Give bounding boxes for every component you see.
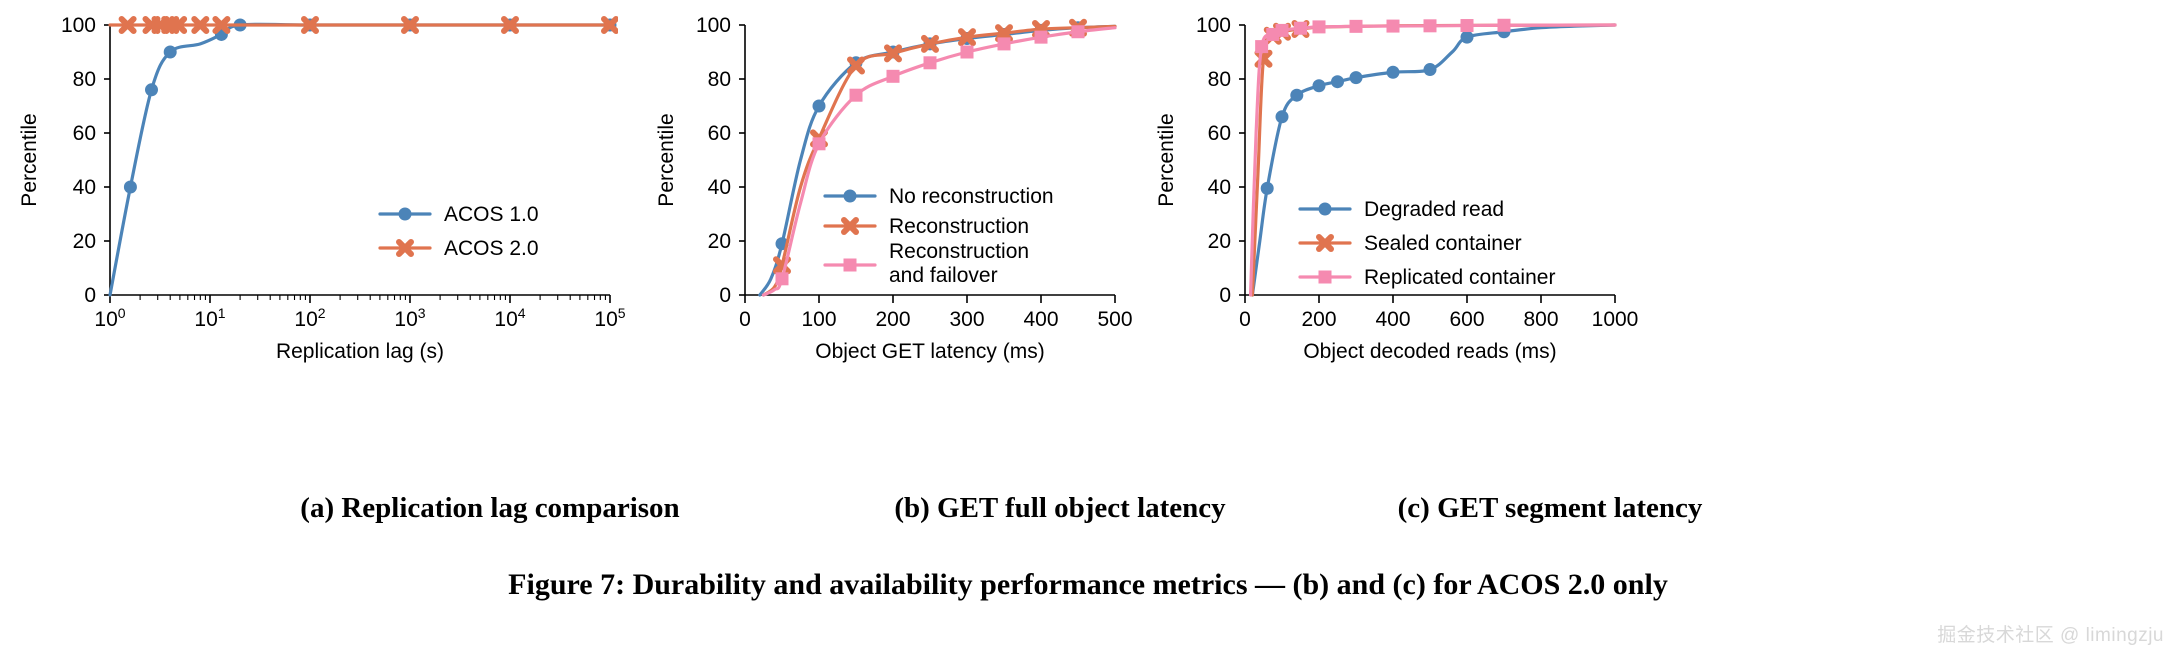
x-axis-title-c: Object decoded reads (ms) [1303,340,1556,363]
y-tick-label: 0 [84,284,96,307]
chart-panel-c: 0 20 40 60 80 100 Percentile [1140,0,1660,480]
series-marker [504,19,516,31]
legend-label: No reconstruction [889,185,1054,208]
series-marker [1035,31,1048,44]
series-marker [145,83,158,96]
x-axis-title-a: Replication lag (s) [276,340,444,363]
y-tick-label: 0 [1219,284,1231,307]
series-marker [124,181,137,194]
x-tick-label: 0 [739,308,751,331]
x-axis-title-b: Object GET latency (ms) [815,340,1045,363]
x-tick-label: 101 [194,305,225,331]
legend-label-line2: and failover [889,264,998,287]
y-tick-label: 80 [73,68,96,91]
series-marker [604,19,616,31]
y-tick-label: 20 [708,230,731,253]
chart-panel-a: 0 20 40 60 80 100 Percentile [0,0,640,480]
y-ticks-a: 0 20 40 60 80 100 [61,14,110,307]
x-tick-label: 104 [494,305,525,331]
legend-label: ACOS 2.0 [444,237,539,260]
legend-entry-replicated-container[interactable]: Replicated container [1300,266,1555,289]
legend-marker-x [1319,237,1331,249]
series-marker [813,100,826,113]
x-tick-label: 100 [801,308,836,331]
y-tick-label: 20 [73,230,96,253]
y-tick-label: 0 [719,284,731,307]
legend-marker-x [399,242,411,254]
y-axis-title-b: Percentile [655,113,678,206]
figure-container: 0 20 40 60 80 100 Percentile [0,0,2176,655]
y-tick-label: 100 [1196,14,1231,37]
y-axis-title-c: Percentile [1155,113,1178,206]
series-marker [1498,19,1511,32]
x-tick-label: 300 [949,308,984,331]
series-marker [1313,20,1326,33]
series-marker [1294,22,1307,35]
series-marker [1350,20,1363,33]
series-marker [1290,89,1303,102]
series-marker [1461,19,1474,32]
chart-panel-b: 0 20 40 60 80 100 Percentile [640,0,1140,480]
figure-caption: Figure 7: Durability and availability pe… [0,568,2176,602]
series-marker [1261,182,1274,195]
panel-b-legend: No reconstruction Reconstruction Reco [825,185,1054,287]
panels-row: 0 20 40 60 80 100 Percentile [0,0,2176,480]
x-tick-label: 105 [594,305,625,331]
legend-label: Sealed container [1364,232,1522,255]
series-marker [172,19,184,31]
y-ticks-b: 0 20 40 60 80 100 [696,14,745,307]
y-axis-title-a: Percentile [18,113,41,206]
panel-c-svg: 0 20 40 60 80 100 Percentile [1140,0,1660,480]
series-marker [122,19,134,31]
legend-marker-circle [844,190,857,203]
panel-a-axes: 0 20 40 60 80 100 Percentile [18,14,626,363]
series-marker [887,47,899,59]
subcaption-c: (c) GET segment latency [1320,492,1780,525]
panel-c-legend: Degraded read Sealed container Replic [1300,198,1555,289]
series-marker [1276,24,1289,37]
legend-label: Reconstruction [889,215,1029,238]
x-tick-label: 103 [394,305,425,331]
series-marker [164,46,177,59]
x-tick-label: 1000 [1592,308,1639,331]
y-tick-label: 100 [61,14,96,37]
series-1 [110,19,617,296]
panel-a-legend: ACOS 1.0 ACOS 2.0 [380,203,539,260]
series-marker [961,46,974,59]
legend-entry-sealed-container[interactable]: Sealed container [1300,232,1522,255]
series-marker [813,137,826,150]
series-marker [1255,40,1268,53]
legend-entry-acos2[interactable]: ACOS 2.0 [380,237,539,260]
series-marker [194,19,206,31]
legend-label: Degraded read [1364,198,1504,221]
x-ticks-c: 0 200 400 600 800 1000 [1239,295,1638,331]
y-tick-label: 40 [73,176,96,199]
legend-entry-no-reconstruction[interactable]: No reconstruction [825,185,1054,208]
series-marker [850,60,862,72]
x-tick-label: 800 [1523,308,1558,331]
x-tick-labels-a: 100 101 102 103 104 105 [94,305,625,331]
series-marker [961,31,973,43]
series-marker [1424,19,1437,32]
y-tick-label: 20 [1208,230,1231,253]
legend-marker-circle [399,208,412,221]
series-marker [776,272,789,285]
x-tick-label: 400 [1023,308,1058,331]
x-tick-label: 0 [1239,308,1251,331]
series-marker [1331,75,1344,88]
y-tick-label: 60 [73,122,96,145]
x-tick-label: 100 [94,305,125,331]
series-marker [1424,63,1437,76]
legend-marker-circle [1319,203,1332,216]
series-marker [1387,20,1400,33]
series-marker [924,56,937,69]
legend-label: Replicated container [1364,266,1555,289]
series-marker [850,89,863,102]
series-marker [404,19,416,31]
panel-a-series [110,19,617,296]
subcaption-a: (a) Replication lag comparison [180,492,800,525]
series-2 [110,19,616,31]
legend-marker-square [1319,271,1332,284]
panel-c-axes: 0 20 40 60 80 100 Percentile [1155,14,1638,363]
legend-entry-reconstruction-failover[interactable]: Reconstruction and failover [825,240,1029,287]
legend-entry-reconstruction[interactable]: Reconstruction [825,215,1029,238]
series-marker [998,27,1010,39]
x-tick-label: 200 [1301,308,1336,331]
y-tick-label: 80 [1208,68,1231,91]
legend-entry-acos1[interactable]: ACOS 1.0 [380,203,539,226]
series-marker [1461,31,1474,44]
series-marker [924,38,936,50]
y-ticks-c: 0 20 40 60 80 100 [1196,14,1245,307]
series-marker [1276,110,1289,123]
legend-entry-degraded-read[interactable]: Degraded read [1300,198,1504,221]
watermark: 掘金技术社区 @ limingzju [1937,620,2164,647]
x-tick-label: 102 [294,305,325,331]
x-ticks-a [110,295,610,303]
x-tick-label: 200 [875,308,910,331]
panel-a-svg: 0 20 40 60 80 100 Percentile [0,0,640,480]
y-tick-label: 60 [1208,122,1231,145]
y-tick-label: 100 [696,14,731,37]
y-tick-label: 60 [708,122,731,145]
panel-b-svg: 0 20 40 60 80 100 Percentile [640,0,1140,480]
legend-marker-square [844,259,857,272]
x-tick-label: 400 [1375,308,1410,331]
y-tick-label: 40 [708,176,731,199]
series-marker [304,19,316,31]
y-tick-label: 80 [708,68,731,91]
series-marker [1387,66,1400,79]
legend-label: ACOS 1.0 [444,203,539,226]
series-marker [1313,79,1326,92]
series-marker [215,19,227,31]
subcaption-row: (a) Replication lag comparison (b) GET f… [0,492,2176,542]
y-tick-label: 40 [1208,176,1231,199]
x-tick-label: 600 [1449,308,1484,331]
series-marker [998,37,1011,50]
legend-label-line1: Reconstruction [889,240,1029,263]
x-tick-label: 500 [1097,308,1132,331]
legend-marker-x [844,220,856,232]
x-ticks-b: 0 100 200 300 400 500 [739,295,1132,331]
subcaption-b: (b) GET full object latency [830,492,1290,525]
series-marker [1072,25,1085,38]
series-marker [1350,71,1363,84]
series-marker [887,70,900,83]
